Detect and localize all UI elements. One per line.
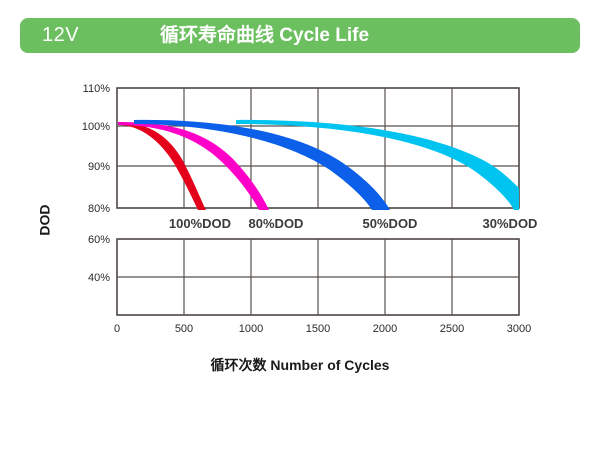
voltage-label: 12V (42, 24, 79, 47)
chart-svg: DOD (0, 60, 600, 390)
xtick-2000: 2000 (373, 323, 397, 335)
y-axis-title: DOD (37, 204, 53, 235)
ytick-40: 40% (88, 272, 110, 284)
xtick-3000: 3000 (507, 323, 531, 335)
ytick-80: 80% (88, 203, 110, 215)
x-axis-title: 循环次数 Number of Cycles (0, 355, 600, 375)
ytick-60: 60% (88, 234, 110, 246)
ytick-110: 110% (83, 83, 111, 95)
upper-panel-grid (117, 88, 519, 208)
curve-50-dod (134, 120, 390, 210)
xtick-500: 500 (175, 323, 193, 335)
page-title: 循环寿命曲线 Cycle Life (160, 23, 369, 48)
xtick-1500: 1500 (306, 323, 330, 335)
xtick-1000: 1000 (239, 323, 263, 335)
lower-panel-grid (117, 239, 519, 315)
curve-label-30-dod: 30%DOD (483, 216, 538, 231)
cycle-life-chart: DOD (0, 60, 600, 390)
xtick-2500: 2500 (440, 323, 464, 335)
curve-label-80-dod: 80%DOD (249, 216, 304, 231)
ytick-90: 90% (88, 161, 110, 173)
header-banner: 12V 循环寿命曲线 Cycle Life (20, 18, 580, 53)
ytick-100: 100% (82, 121, 110, 133)
curve-label-50-dod: 50%DOD (363, 216, 418, 231)
curve-label-100-dod: 100%DOD (169, 216, 231, 231)
xtick-0: 0 (114, 323, 120, 335)
